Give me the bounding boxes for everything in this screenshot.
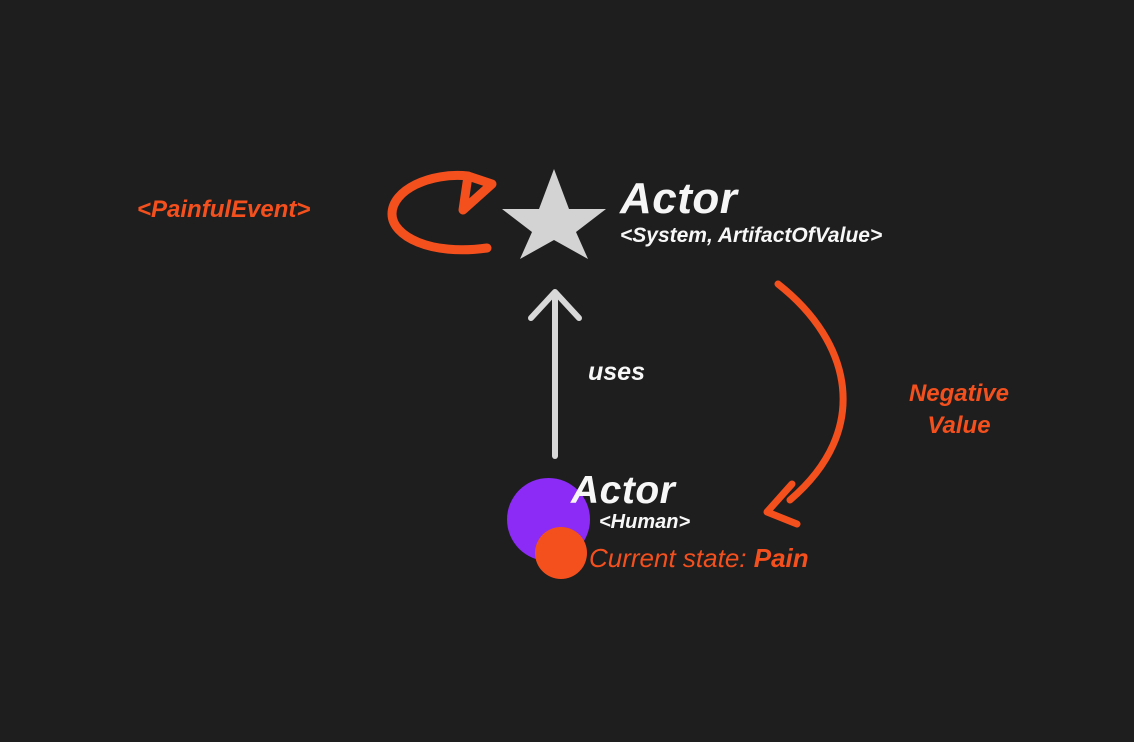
edge-label-painful-event: <PainfulEvent> <box>137 196 310 224</box>
node-human-title: Actor <box>571 471 991 510</box>
state-badge: Pain <box>754 543 809 573</box>
edge-painful-event-arrow <box>392 175 492 249</box>
node-system-stereotype: <System, ArtifactOfValue> <box>620 224 1040 247</box>
star-icon <box>501 166 607 262</box>
node-system: Actor <System, ArtifactOfValue> <box>620 176 1040 247</box>
node-human-state: Current state: Pain <box>589 543 809 574</box>
edge-label-negative-value-line1: Negative <box>880 378 1038 410</box>
node-system-title: Actor <box>620 176 1040 222</box>
edge-label-uses: uses <box>588 358 645 387</box>
node-human: Actor <Human> <box>571 471 991 533</box>
edge-label-negative-value-line2: Value <box>880 410 1038 442</box>
edge-uses-arrow <box>531 292 579 456</box>
diagram-canvas: Actor <System, ArtifactOfValue> Actor <H… <box>0 0 1134 742</box>
edge-label-negative-value: Negative Value <box>880 378 1038 442</box>
edge-layer <box>0 0 1134 742</box>
state-circle-icon <box>535 527 587 579</box>
state-label: Current state: <box>589 543 747 573</box>
node-human-stereotype: <Human> <box>599 511 991 533</box>
